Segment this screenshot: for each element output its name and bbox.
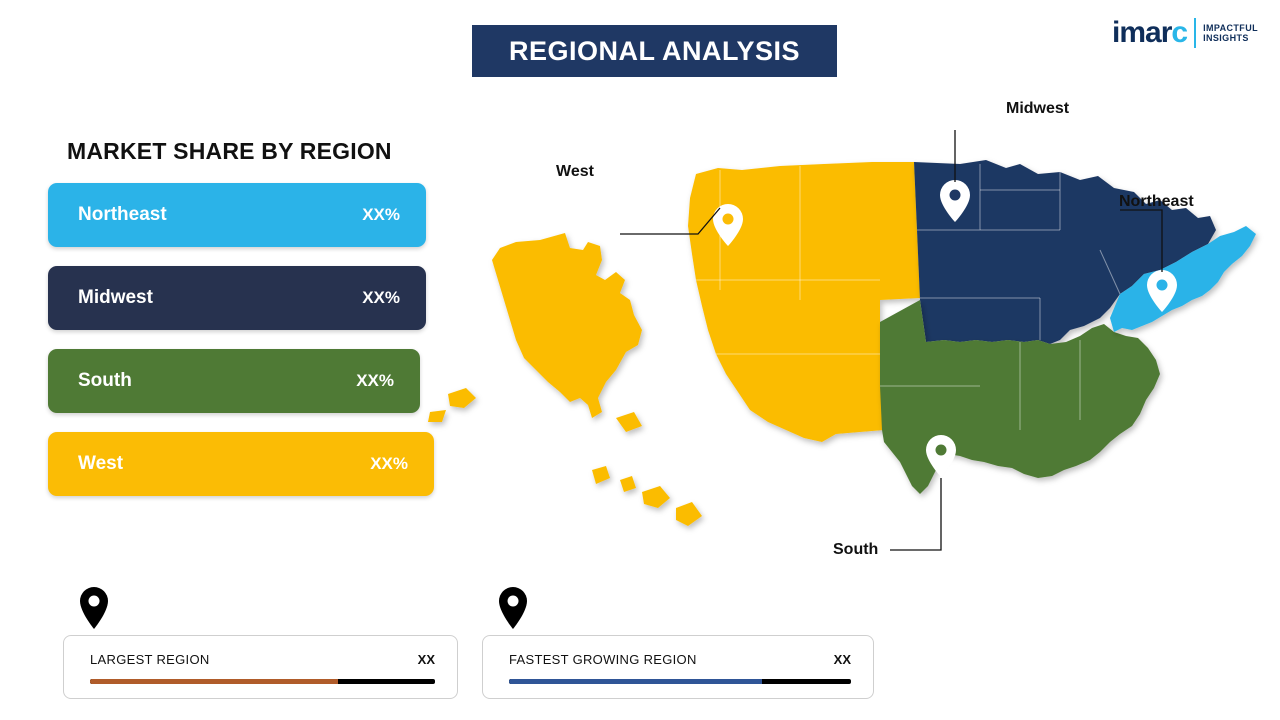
largest-region-pin-icon — [78, 586, 110, 630]
bar-value-northeast: XX% — [362, 205, 400, 225]
callout-label-midwest: Midwest — [1006, 100, 1069, 118]
fastest-growing-region-pin-icon — [497, 586, 529, 630]
logo-divider — [1194, 18, 1196, 48]
logo-tagline: IMPACTFUL INSIGHTS — [1203, 23, 1258, 44]
bar-value-south: XX% — [356, 371, 394, 391]
bar-row-northeast: Northeast XX% — [48, 183, 426, 247]
fastest-growing-region-track — [509, 679, 851, 684]
callout-label-west: West — [556, 163, 594, 181]
fastest-growing-region-fill — [509, 679, 762, 684]
logo-tagline-line2: INSIGHTS — [1203, 33, 1258, 43]
fastest-growing-region-value: XX — [834, 652, 851, 667]
market-share-bar-list: Northeast XX% Midwest XX% South XX% West… — [48, 183, 448, 515]
logo-tagline-line1: IMPACTFUL — [1203, 23, 1258, 33]
bar-value-west: XX% — [370, 454, 408, 474]
bar-label-west: West — [78, 453, 123, 475]
largest-region-value: XX — [418, 652, 435, 667]
bar-label-south: South — [78, 370, 132, 392]
bar-row-south: South XX% — [48, 349, 420, 413]
bar-row-midwest: Midwest XX% — [48, 266, 426, 330]
imarc-logo: imarc IMPACTFUL INSIGHTS — [1112, 16, 1258, 50]
largest-region-fill — [90, 679, 338, 684]
largest-region-label: LARGEST REGION — [90, 652, 210, 667]
logo-wordmark: imarc — [1112, 16, 1187, 50]
slide-canvas: REGIONAL ANALYSIS imarc IMPACTFUL INSIGH… — [0, 0, 1280, 720]
fastest-growing-region-box: FASTEST GROWING REGION XX — [482, 635, 874, 699]
callout-label-south: South — [833, 541, 878, 559]
page-title-text: REGIONAL ANALYSIS — [509, 36, 800, 67]
callout-label-northeast: Northeast — [1119, 193, 1194, 211]
map-region-alaska — [428, 233, 642, 432]
bar-label-midwest: Midwest — [78, 287, 153, 309]
largest-region-track — [90, 679, 435, 684]
bar-label-northeast: Northeast — [78, 204, 167, 226]
market-share-heading: MARKET SHARE BY REGION — [67, 138, 392, 165]
page-title: REGIONAL ANALYSIS — [472, 25, 837, 77]
bar-value-midwest: XX% — [362, 288, 400, 308]
bar-row-west: West XX% — [48, 432, 434, 496]
largest-region-box: LARGEST REGION XX — [63, 635, 458, 699]
fastest-growing-region-label: FASTEST GROWING REGION — [509, 652, 697, 667]
map-region-hawaii — [592, 466, 702, 526]
